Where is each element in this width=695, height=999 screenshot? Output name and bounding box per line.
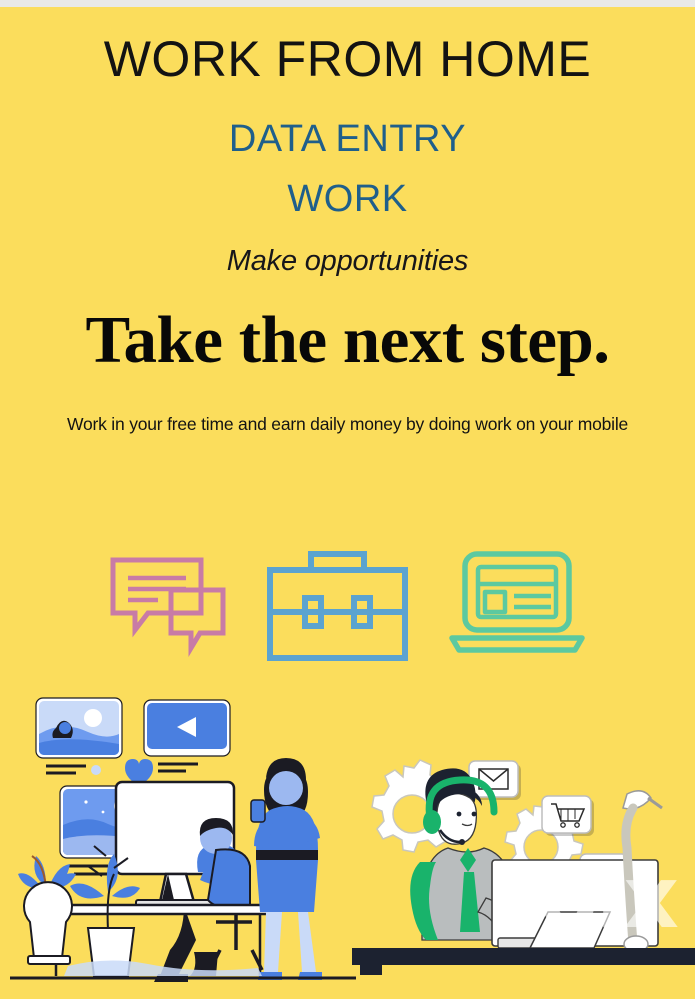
subtitle-line-1: DATA ENTRY: [0, 120, 695, 160]
body-copy: Work in your free time and earn daily mo…: [30, 410, 665, 439]
page-title: WORK FROM HOME: [0, 34, 695, 84]
agent-desk-surface: [352, 948, 695, 965]
top-edge-strip: [0, 0, 695, 7]
headset-earcup: [423, 810, 441, 834]
poster-canvas: WORK FROM HOME DATA ENTRY WORK Make oppo…: [0, 0, 695, 999]
briefcase-icon-wrap: [265, 542, 410, 664]
social-card-1: [36, 698, 122, 775]
tagline: Make opportunities: [0, 245, 695, 278]
chat-bubbles-icon: [108, 548, 228, 658]
customer-support-scene: [352, 752, 695, 999]
plant-round-vase: [18, 856, 76, 964]
standing-woman-figure: [251, 758, 322, 980]
briefcase-icon: [265, 542, 410, 664]
laptop-icon: [447, 546, 587, 661]
laptop-icon-wrap: [447, 546, 587, 661]
cart-card-icon: [542, 796, 594, 836]
feature-icon-row: [0, 528, 695, 678]
headline: Take the next step.: [0, 305, 695, 375]
home-office-desk-scene: [8, 690, 358, 990]
subtitle-line-2: WORK: [0, 180, 695, 220]
chat-bubbles-icon-wrap: [108, 548, 228, 658]
